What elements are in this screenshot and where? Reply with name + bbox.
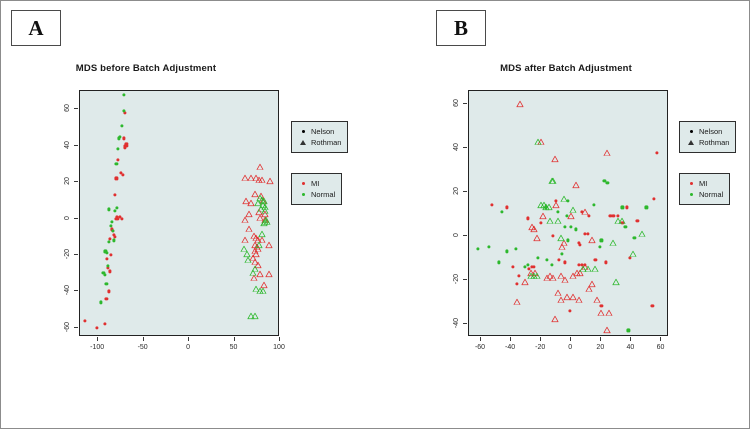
data-point-triangle <box>264 212 271 218</box>
data-point-dot <box>537 256 540 259</box>
y-tick <box>463 103 467 104</box>
x-tick-label: 100 <box>273 344 285 351</box>
data-point-dot <box>105 297 108 300</box>
x-tick <box>540 337 541 341</box>
legend-label: Normal <box>697 190 723 199</box>
data-point-triangle <box>256 157 263 163</box>
x-tick-label: -20 <box>535 344 545 351</box>
panel-label-b: B <box>436 10 486 46</box>
data-point-triangle <box>259 281 266 287</box>
plot-title-b: MDS after Batch Adjustment <box>421 63 711 74</box>
data-point-dot <box>99 301 102 304</box>
data-point-triangle <box>533 266 540 272</box>
data-point-triangle <box>261 201 268 207</box>
data-point-dot <box>117 137 120 140</box>
data-point-triangle <box>514 292 521 298</box>
y-tick <box>74 327 78 328</box>
x-tick-label: 50 <box>230 344 238 351</box>
data-point-triangle <box>598 303 605 309</box>
data-point-dot <box>122 93 125 96</box>
data-point-triangle <box>554 211 561 217</box>
x-tick <box>234 337 235 341</box>
data-point-dot <box>109 253 112 256</box>
data-point-triangle <box>610 233 617 239</box>
legend-item-mi: MI <box>685 178 723 189</box>
legend-label: MI <box>697 179 707 188</box>
data-point-triangle <box>547 211 554 217</box>
x-tick <box>510 337 511 341</box>
data-point-triangle <box>589 231 596 237</box>
data-point-dot <box>600 239 603 242</box>
data-point-triangle <box>242 230 249 236</box>
plot-title-a: MDS before Batch Adjustment <box>1 63 291 74</box>
data-point-triangle <box>258 224 265 230</box>
data-point-dot <box>627 329 630 332</box>
data-point-triangle <box>638 224 645 230</box>
data-point-dot <box>574 228 577 231</box>
data-point-dot <box>621 206 624 209</box>
dot-icon <box>685 182 697 185</box>
data-point-triangle <box>575 290 582 296</box>
x-tick <box>143 337 144 341</box>
legend-label: Nelson <box>309 127 334 136</box>
data-point-dot <box>579 243 582 246</box>
data-point-triangle <box>592 259 599 265</box>
legend-item-nelson: Nelson <box>297 126 341 137</box>
data-point-dot <box>568 309 571 312</box>
data-point-dot <box>500 210 503 213</box>
data-point-dot <box>558 259 561 262</box>
data-point-triangle <box>265 265 272 271</box>
data-point-dot <box>546 259 549 262</box>
y-tick <box>463 191 467 192</box>
data-point-dot <box>570 226 573 229</box>
data-point-triangle <box>560 189 567 195</box>
x-tick-label: 40 <box>626 344 634 351</box>
scatter-points-b <box>469 91 667 335</box>
data-point-triangle <box>249 263 256 269</box>
panel-a: A MDS before Batch Adjustment -100-50050… <box>1 1 376 430</box>
legend-label: MI <box>309 179 319 188</box>
data-point-dot <box>606 182 609 185</box>
data-point-dot <box>107 208 110 211</box>
y-tick <box>74 181 78 182</box>
x-tick <box>97 337 98 341</box>
data-point-triangle <box>554 283 561 289</box>
data-point-triangle <box>265 235 272 241</box>
x-tick-label: -40 <box>505 344 515 351</box>
data-point-dot <box>514 248 517 251</box>
data-point-dot <box>103 323 106 326</box>
data-point-dot <box>516 283 519 286</box>
data-point-triangle <box>266 172 273 178</box>
data-point-triangle <box>242 210 249 216</box>
y-tick <box>463 279 467 280</box>
data-point-dot <box>107 241 110 244</box>
data-point-dot <box>561 252 564 255</box>
y-tick <box>463 323 467 324</box>
figure-root: A MDS before Batch Adjustment -100-50050… <box>0 0 750 429</box>
data-point-triangle <box>604 143 611 149</box>
data-point-dot <box>651 305 654 308</box>
y-tick <box>463 235 467 236</box>
data-point-dot <box>604 261 607 264</box>
data-point-dot <box>117 159 120 162</box>
dot-icon <box>297 193 309 196</box>
data-point-dot <box>497 261 500 264</box>
x-tick <box>480 337 481 341</box>
dot-icon <box>685 193 697 196</box>
data-point-triangle <box>584 259 591 265</box>
legend-color-a[interactable]: MI Normal <box>291 173 342 205</box>
legend-label: Rothman <box>309 138 341 147</box>
data-point-triangle <box>593 290 600 296</box>
data-point-triangle <box>258 170 265 176</box>
data-point-dot <box>552 234 555 237</box>
data-point-triangle <box>613 272 620 278</box>
data-point-dot <box>624 226 627 229</box>
x-tick-label: -60 <box>475 344 485 351</box>
data-point-triangle <box>553 195 560 201</box>
data-point-triangle <box>550 268 557 274</box>
data-point-triangle <box>586 279 593 285</box>
x-tick-label: -50 <box>138 344 148 351</box>
data-point-dot <box>645 206 648 209</box>
data-point-dot <box>592 204 595 207</box>
legend-label: Normal <box>309 190 335 199</box>
data-point-triangle <box>572 176 579 182</box>
data-point-dot <box>540 221 543 224</box>
data-point-triangle <box>245 250 252 256</box>
scatter-points-a <box>80 91 278 335</box>
data-point-dot <box>121 173 124 176</box>
data-point-triangle <box>517 94 524 100</box>
data-point-dot <box>96 326 99 329</box>
plot-area-a <box>79 90 279 336</box>
legend-item-nelson: Nelson <box>685 126 729 137</box>
x-tick-label: 0 <box>568 344 572 351</box>
dot-icon <box>685 130 697 133</box>
dot-icon <box>297 182 309 185</box>
legend-item-rothman: Rothman <box>685 137 729 148</box>
data-point-dot <box>105 283 108 286</box>
data-point-dot <box>122 137 125 140</box>
x-tick <box>600 337 601 341</box>
data-point-dot <box>112 239 115 242</box>
data-point-dot <box>476 248 479 251</box>
data-point-dot <box>113 210 116 213</box>
triangle-icon <box>297 140 309 145</box>
data-point-triangle <box>551 149 558 155</box>
data-point-triangle <box>530 220 537 226</box>
data-point-dot <box>123 146 126 149</box>
plot-area-b <box>468 90 668 336</box>
legend-item-normal: Normal <box>685 189 723 200</box>
panel-label-a: A <box>11 10 61 46</box>
x-tick <box>570 337 571 341</box>
y-tick <box>74 145 78 146</box>
data-point-triangle <box>242 168 249 174</box>
data-point-triangle <box>562 270 569 276</box>
x-tick-label: 60 <box>657 344 665 351</box>
legend-shape-b[interactable]: Nelson Rothman <box>679 121 736 153</box>
data-point-triangle <box>533 228 540 234</box>
y-tick <box>74 290 78 291</box>
data-point-dot <box>120 124 123 127</box>
triangle-icon <box>685 140 697 145</box>
data-point-dot <box>106 257 109 260</box>
x-tick-label: 0 <box>186 344 190 351</box>
data-point-dot <box>655 151 658 154</box>
data-point-triangle <box>619 211 626 217</box>
legend-label: Rothman <box>697 138 729 147</box>
data-point-triangle <box>581 202 588 208</box>
data-point-dot <box>113 193 116 196</box>
x-tick-label: -100 <box>90 344 104 351</box>
data-point-triangle <box>629 244 636 250</box>
legend-label: Nelson <box>697 127 722 136</box>
data-point-triangle <box>557 228 564 234</box>
y-tick <box>463 147 467 148</box>
data-point-dot <box>564 261 567 264</box>
data-point-dot <box>598 245 601 248</box>
x-tick-label: 20 <box>596 344 604 351</box>
y-tick <box>74 254 78 255</box>
legend-color-b[interactable]: MI Normal <box>679 173 730 205</box>
x-tick <box>188 337 189 341</box>
y-tick <box>74 108 78 109</box>
data-point-dot <box>487 245 490 248</box>
data-point-triangle <box>247 193 254 199</box>
legend-item-normal: Normal <box>297 189 335 200</box>
data-point-dot <box>505 250 508 253</box>
data-point-dot <box>108 270 111 273</box>
data-point-dot <box>633 237 636 240</box>
legend-item-rothman: Rothman <box>297 137 341 148</box>
legend-shape-a[interactable]: Nelson Rothman <box>291 121 348 153</box>
data-point-dot <box>490 204 493 207</box>
data-point-triangle <box>251 306 258 312</box>
x-tick <box>630 337 631 341</box>
data-point-dot <box>116 206 119 209</box>
data-point-triangle <box>551 310 558 316</box>
data-point-dot <box>628 256 631 259</box>
data-point-triangle <box>255 235 262 241</box>
data-point-dot <box>126 144 129 147</box>
data-point-triangle <box>542 198 549 204</box>
data-point-dot <box>652 197 655 200</box>
data-point-dot <box>117 148 120 151</box>
data-point-triangle <box>604 321 611 327</box>
x-tick <box>279 337 280 341</box>
y-tick <box>74 218 78 219</box>
data-point-triangle <box>550 171 557 177</box>
panel-b: B MDS after Batch Adjustment -60-40-2002… <box>376 1 750 430</box>
data-point-dot <box>588 215 591 218</box>
data-point-triangle <box>605 303 612 309</box>
data-point-dot <box>115 177 118 180</box>
data-point-dot <box>625 206 628 209</box>
data-point-triangle <box>569 200 576 206</box>
data-point-dot <box>83 319 86 322</box>
legend-item-mi: MI <box>297 178 335 189</box>
data-point-triangle <box>245 219 252 225</box>
data-point-dot <box>505 206 508 209</box>
dot-icon <box>297 130 309 133</box>
data-point-triangle <box>535 132 542 138</box>
x-tick <box>660 337 661 341</box>
data-point-dot <box>107 290 110 293</box>
data-point-dot <box>636 219 639 222</box>
data-point-dot <box>511 265 514 268</box>
data-point-dot <box>517 274 520 277</box>
data-point-dot <box>115 162 118 165</box>
